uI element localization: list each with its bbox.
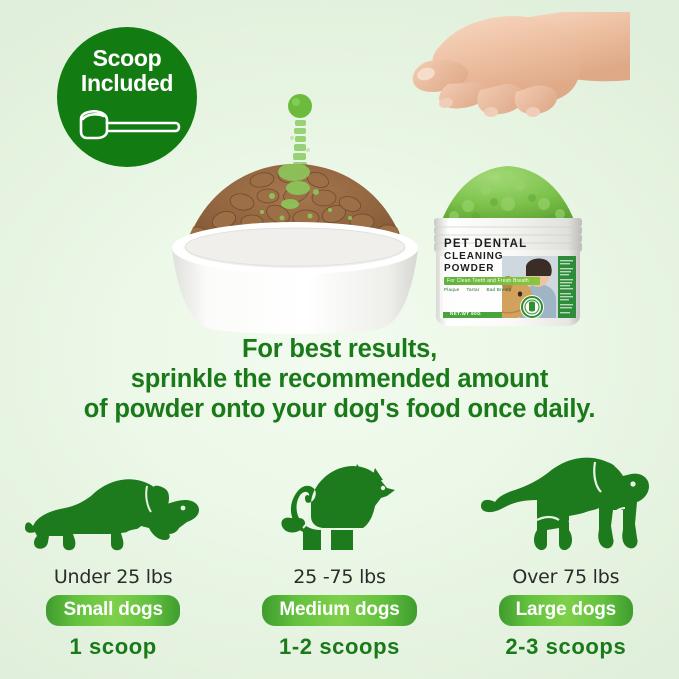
large-dog-size-pill: Large dogs bbox=[499, 595, 633, 626]
dosage-column-small: Under 25 lbs Small dogs 1 scoop bbox=[6, 444, 221, 660]
dosage-chart: Under 25 lbs Small dogs 1 scoop 25 -75 l… bbox=[0, 444, 679, 660]
headline-line-2: sprinkle the recommended amount bbox=[0, 364, 679, 394]
large-dog-labrador-silhouette bbox=[481, 444, 651, 556]
jar-net-weight: NET.WT 60G bbox=[450, 311, 481, 316]
small-dog-scoops: 1 scoop bbox=[69, 634, 156, 660]
pet-dental-cleaning-powder-jar bbox=[424, 162, 592, 330]
medium-dog-shiba-silhouette bbox=[279, 444, 399, 556]
large-dog-scoops: 2-3 scoops bbox=[505, 634, 626, 660]
large-dog-weight-label: Over 75 lbs bbox=[512, 566, 619, 588]
small-dog-size-pill: Small dogs bbox=[46, 595, 179, 626]
scoop-badge-line2: Included bbox=[81, 71, 173, 96]
dosage-column-large: Over 75 lbs Large dogs 2-3 scoops bbox=[458, 444, 673, 660]
headline-line-3: of powder onto your dog's food once dail… bbox=[0, 394, 679, 424]
small-dog-weight-label: Under 25 lbs bbox=[54, 566, 173, 588]
small-dog-dachshund-silhouette bbox=[23, 444, 203, 556]
medium-dog-weight-label: 25 -75 lbs bbox=[293, 566, 386, 588]
page-headline: For best results, sprinkle the recommend… bbox=[0, 334, 679, 424]
headline-line-1: For best results, bbox=[0, 334, 679, 364]
dog-food-bowl-illustration bbox=[150, 148, 440, 338]
scoop-included-badge: Scoop Included bbox=[57, 27, 197, 167]
scoop-badge-line1: Scoop bbox=[93, 46, 162, 71]
medium-dog-size-pill: Medium dogs bbox=[262, 595, 416, 626]
measuring-scoop-icon bbox=[71, 107, 183, 148]
dosage-column-medium: 25 -75 lbs Medium dogs 1-2 scoops bbox=[232, 444, 447, 660]
medium-dog-scoops: 1-2 scoops bbox=[279, 634, 400, 660]
